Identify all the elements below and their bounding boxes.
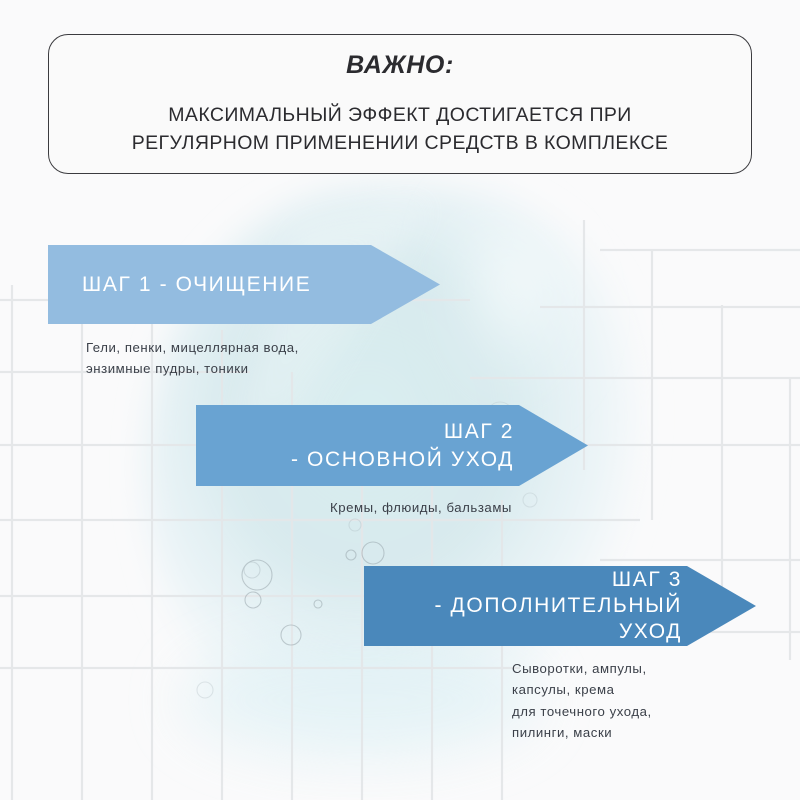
step-2-description: Кремы, флюиды, бальзамы <box>330 497 512 518</box>
note-body: МАКСИМАЛЬНЫЙ ЭФФЕКТ ДОСТИГАЕТСЯ ПРИ РЕГУ… <box>132 102 669 157</box>
step-1-arrow-banner[interactable]: ШАГ 1 - ОЧИЩЕНИЕ <box>48 245 440 324</box>
note-title: ВАЖНО: <box>346 51 454 80</box>
step-3-label: ШАГ 3 - ДОПОЛНИТЕЛЬНЫЙ УХОД <box>364 567 756 646</box>
infographic-canvas: ВАЖНО: МАКСИМАЛЬНЫЙ ЭФФЕКТ ДОСТИГАЕТСЯ П… <box>0 0 800 800</box>
important-note-box: ВАЖНО: МАКСИМАЛЬНЫЙ ЭФФЕКТ ДОСТИГАЕТСЯ П… <box>48 34 752 174</box>
step-3-description: Сыворотки, ампулы, капсулы, крема для то… <box>512 658 652 744</box>
step-1-label: ШАГ 1 - ОЧИЩЕНИЕ <box>48 271 440 299</box>
step-2-label: ШАГ 2 - ОСНОВНОЙ УХОД <box>196 418 588 473</box>
step-1-description: Гели, пенки, мицеллярная вода, энзимные … <box>86 337 299 380</box>
step-3-arrow-banner[interactable]: ШАГ 3 - ДОПОЛНИТЕЛЬНЫЙ УХОД <box>364 566 756 646</box>
note-body-line-1: МАКСИМАЛЬНЫЙ ЭФФЕКТ ДОСТИГАЕТСЯ ПРИ <box>132 102 669 130</box>
step-2-arrow-banner[interactable]: ШАГ 2 - ОСНОВНОЙ УХОД <box>196 405 588 486</box>
note-body-line-2: РЕГУЛЯРНОМ ПРИМЕНЕНИИ СРЕДСТВ В КОМПЛЕКС… <box>132 130 669 158</box>
